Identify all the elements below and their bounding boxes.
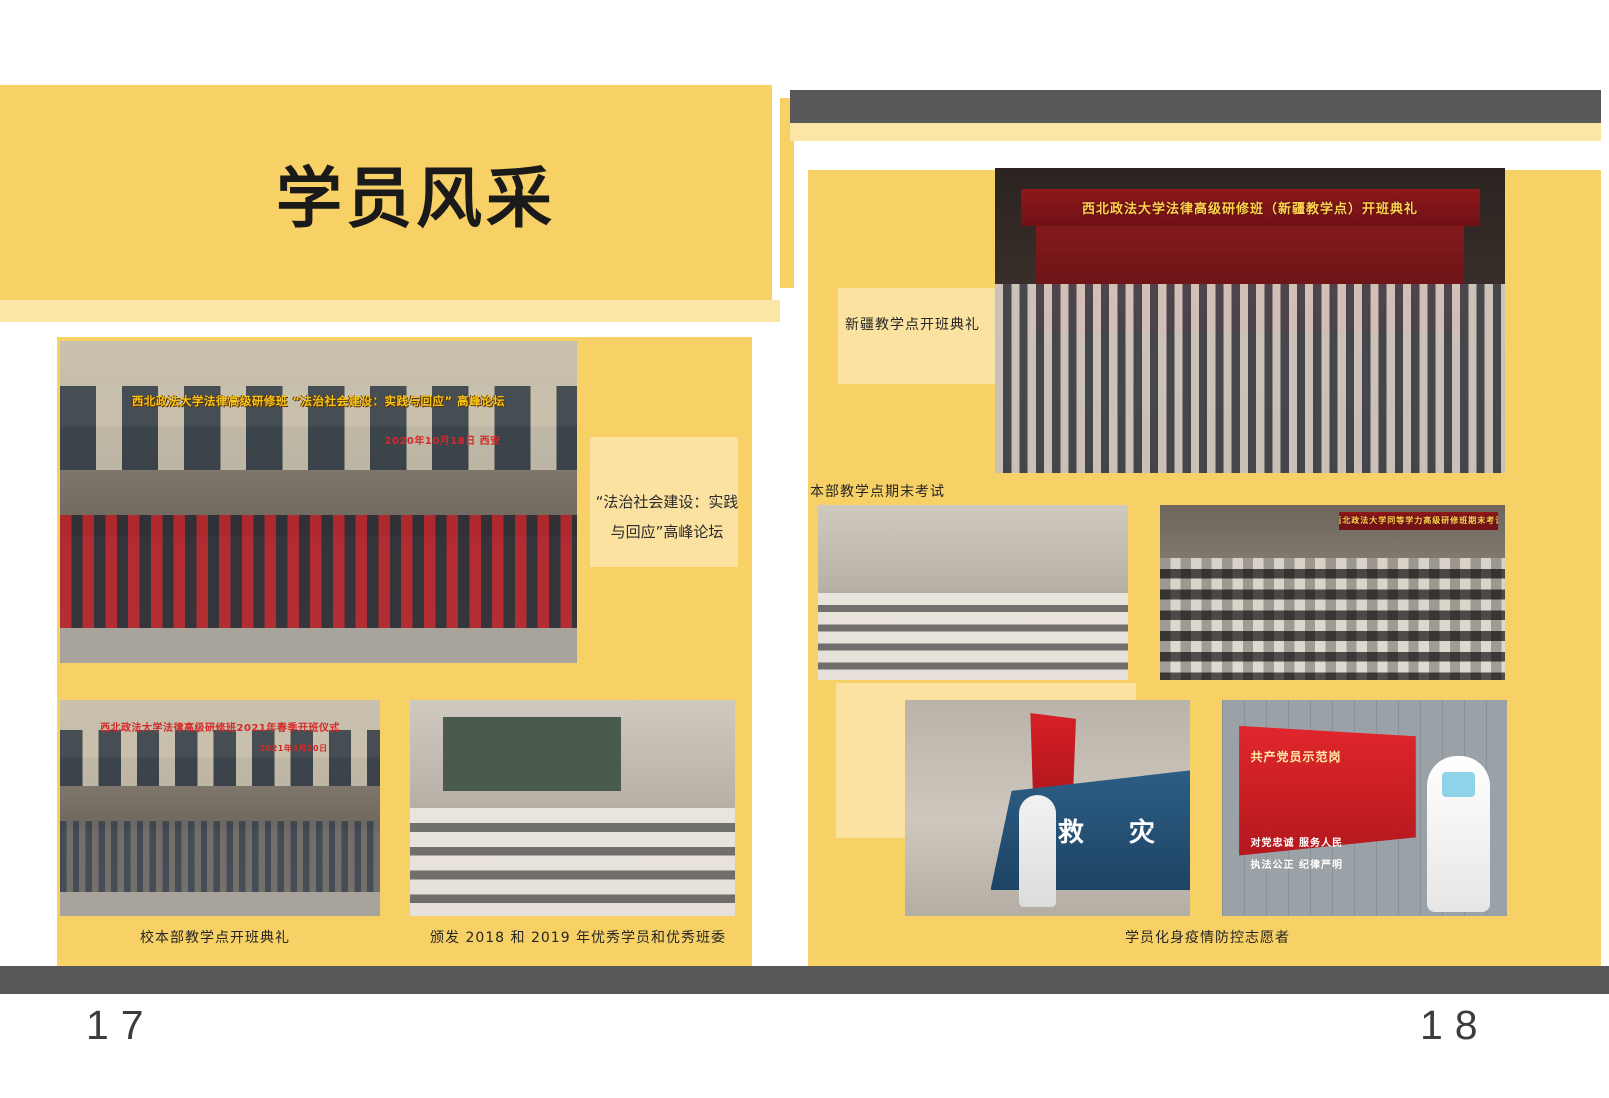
right-margin bbox=[1601, 0, 1609, 1098]
photo-attendees-detail bbox=[995, 284, 1505, 473]
forum-group-photo: 西北政法大学法律高级研修班 “法治社会建设：实践与回应” 高峰论坛 2020年1… bbox=[60, 341, 577, 663]
photo-volunteer-detail bbox=[1019, 795, 1056, 907]
campus-opening-ceremony-photo: 西北政法大学法律高级研修班2021年春季开班仪式 2021年3月20日 bbox=[60, 700, 380, 916]
title-block-shadow bbox=[0, 300, 780, 322]
feature-photo-caption: “法治社会建设：实践与回应”高峰论坛 bbox=[592, 487, 742, 547]
photo-students-detail bbox=[1160, 558, 1505, 681]
disaster-relief-tent-photo: 救 灾 bbox=[905, 700, 1190, 916]
photo-banner-text: 西北政法大学法律高级研修班 “法治社会建设：实践与回应” 高峰论坛 bbox=[81, 383, 557, 418]
photo-tent-text: 救 灾 bbox=[1058, 812, 1173, 849]
photo-flag-subtitle-line-2: 执法公正 纪律严明 bbox=[1251, 856, 1343, 871]
award-ceremony-photo bbox=[410, 700, 735, 916]
photo-banner-text: 西北政法大学法律高级研修班（新疆教学点）开班典礼 bbox=[1021, 189, 1480, 226]
photo-desks-detail bbox=[818, 593, 1128, 681]
photo-sub-banner-text: 2021年3月20日 bbox=[220, 737, 367, 761]
award-ceremony-caption: 颁发 2018 和 2019 年优秀学员和优秀班委 bbox=[430, 927, 726, 947]
top-margin bbox=[0, 0, 1609, 85]
page-number-left: 17 bbox=[86, 1002, 156, 1049]
final-exam-caption: 本部教学点期末考试 bbox=[810, 481, 945, 501]
final-exam-photo-hall: 西北政法大学同等学力高级研修班期末考试 bbox=[1160, 505, 1505, 680]
campus-opening-ceremony-caption: 校本部教学点开班典礼 bbox=[140, 927, 290, 947]
right-page-header-bar bbox=[790, 90, 1601, 123]
brochure-spread: 学员风采 西北政法大学法律高级研修班 “法治社会建设：实践与回应” 高峰论坛 2… bbox=[0, 0, 1609, 1098]
photo-desks-detail bbox=[410, 808, 735, 916]
photo-medical-worker-detail bbox=[1427, 756, 1490, 912]
photo-flag-subtitle-line-1: 对党忠诚 服务人民 bbox=[1251, 834, 1343, 849]
photo-flag-title-text: 共产党员示范岗 bbox=[1251, 748, 1342, 765]
right-page-header-shadow bbox=[790, 123, 1601, 141]
footer-area bbox=[0, 994, 1609, 1098]
photo-ground-detail bbox=[60, 892, 380, 916]
xinjiang-opening-ceremony-photo: 西北政法大学法律高级研修班（新疆教学点）开班典礼 bbox=[995, 168, 1505, 473]
photo-banner-text: 西北政法大学法律高级研修班2021年春季开班仪式 bbox=[73, 715, 367, 739]
party-member-demonstration-post-photo: 共产党员示范岗 对党忠诚 服务人民 执法公正 纪律严明 bbox=[1222, 700, 1507, 916]
final-exam-photo-classroom bbox=[818, 505, 1128, 680]
volunteer-caption: 学员化身疫情防控志愿者 bbox=[1125, 927, 1290, 947]
photo-ground-detail bbox=[60, 628, 577, 663]
xinjiang-opening-ceremony-caption: 新疆教学点开班典礼 bbox=[845, 314, 980, 334]
photo-sub-banner-text: 2020年10月18日 西安 bbox=[329, 422, 556, 457]
page-number-right: 18 bbox=[1420, 1002, 1490, 1049]
photo-blackboard-detail bbox=[443, 717, 622, 790]
page-title: 学员风采 bbox=[0, 85, 772, 300]
photo-banner-text: 西北政法大学同等学力高级研修班期末考试 bbox=[1339, 512, 1498, 530]
footer-dark-band bbox=[0, 966, 1609, 994]
